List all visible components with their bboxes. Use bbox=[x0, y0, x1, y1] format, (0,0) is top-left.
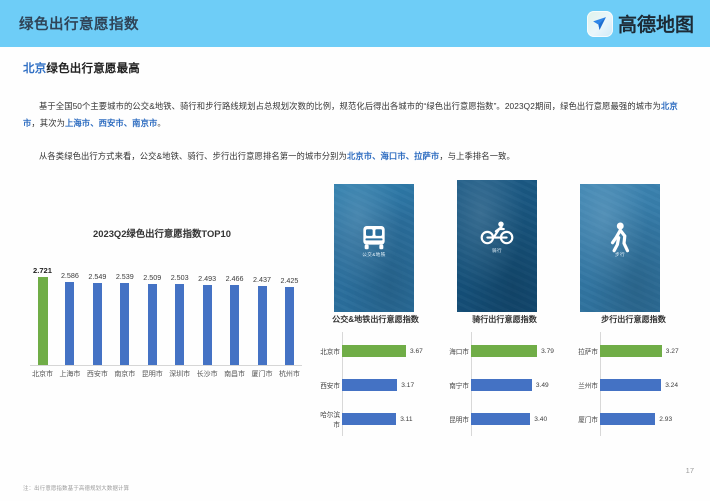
bar-column: 2.437 bbox=[250, 250, 275, 365]
bar bbox=[203, 285, 212, 366]
bar-column: 2.549 bbox=[85, 250, 110, 365]
slide: 绿色出行意愿指数 高德地图 北京绿色出行意愿最高 基于全国50个主要城市的公交&… bbox=[0, 0, 710, 501]
bar bbox=[230, 285, 239, 365]
mini-bar-row: 西安市3.17 bbox=[342, 368, 437, 402]
bar-column: 2.425 bbox=[277, 250, 302, 365]
bicycle-icon bbox=[457, 218, 537, 248]
mini-bar-value-label: 3.49 bbox=[536, 382, 549, 389]
bike-card: 骑行 bbox=[457, 180, 537, 312]
mini-category-label: 海口市 bbox=[443, 346, 469, 356]
bar-value-label: 2.466 bbox=[226, 274, 244, 283]
mini-bar-row: 北京市3.67 bbox=[342, 334, 437, 368]
paragraph-1-part-e: 。 bbox=[157, 118, 165, 128]
mini-category-label: 拉萨市 bbox=[572, 346, 598, 356]
mini-bar bbox=[600, 345, 662, 357]
x-axis-label: 长沙市 bbox=[195, 369, 220, 379]
mini-bar-row: 兰州市3.24 bbox=[600, 368, 695, 402]
bar-value-label: 2.586 bbox=[61, 271, 79, 280]
bar-column: 2.509 bbox=[140, 250, 165, 365]
x-axis-label: 上海市 bbox=[57, 369, 82, 379]
bar-column: 2.721 bbox=[30, 250, 55, 365]
mini-category-label: 南宁市 bbox=[443, 380, 469, 390]
section-heading-rest: 绿色出行意愿最高 bbox=[46, 63, 140, 75]
page-number: 17 bbox=[686, 466, 694, 475]
mini-category-label: 哈尔滨市 bbox=[314, 409, 340, 429]
walk-card-caption: 步行 bbox=[580, 252, 660, 258]
transit-bar-chart: 公交&地铁出行意愿指数 北京市3.67西安市3.17哈尔滨市3.11 bbox=[314, 314, 437, 444]
bar bbox=[65, 282, 74, 366]
paper-plane-icon bbox=[587, 11, 613, 37]
mini-bar-value-label: 3.24 bbox=[665, 382, 678, 389]
section-heading: 北京绿色出行意愿最高 bbox=[23, 60, 140, 76]
mini-bar-value-label: 3.17 bbox=[401, 382, 414, 389]
main-chart-axis-line bbox=[30, 365, 302, 366]
bar bbox=[120, 283, 129, 365]
amap-logo: 高德地图 bbox=[587, 10, 694, 37]
bar-column: 2.503 bbox=[167, 250, 192, 365]
paragraph-2-part-a: 从各类绿色出行方式来看，公交&地铁、骑行、步行出行意愿排名第一的城市分别为 bbox=[39, 151, 347, 161]
mini-bar-value-label: 2.93 bbox=[659, 416, 672, 423]
bike-card-caption: 骑行 bbox=[457, 248, 537, 254]
walking-bar-chart: 步行出行意愿指数 拉萨市3.27兰州市3.24厦门市2.93 bbox=[572, 314, 695, 444]
main-chart-title: 2023Q2绿色出行意愿指数TOP10 bbox=[14, 226, 310, 240]
x-axis-label: 西安市 bbox=[85, 369, 110, 379]
bar-value-label: 2.493 bbox=[198, 274, 216, 283]
mini-bar bbox=[600, 379, 661, 391]
mini-bar-value-label: 3.27 bbox=[666, 348, 679, 355]
x-axis-label: 厦门市 bbox=[250, 369, 275, 379]
bar-value-label: 2.437 bbox=[253, 275, 271, 284]
bar bbox=[38, 277, 48, 365]
cycling-chart-title: 骑行出行意愿指数 bbox=[443, 314, 566, 325]
pedestrian-icon bbox=[580, 222, 660, 254]
x-axis-label: 深圳市 bbox=[167, 369, 192, 379]
bar-column: 2.493 bbox=[195, 250, 220, 365]
bar bbox=[258, 286, 267, 365]
x-axis-label: 南昌市 bbox=[222, 369, 247, 379]
bus-icon bbox=[334, 222, 414, 254]
x-axis-label: 昆明市 bbox=[140, 369, 165, 379]
paragraph-2-part-c: ，与上季排名一致。 bbox=[439, 151, 515, 161]
bus-card-caption: 公交&地铁 bbox=[334, 252, 414, 258]
paragraph-1-part-a: 基于全国50个主要城市的公交&地铁、骑行和步行路线规划占总规划次数的比例，规范化… bbox=[39, 101, 661, 111]
section-heading-highlight: 北京 bbox=[23, 63, 46, 75]
mini-bar-row: 海口市3.79 bbox=[471, 334, 566, 368]
logo-text: 高德地图 bbox=[618, 10, 694, 37]
main-chart-x-labels: 北京市上海市西安市南京市昆明市深圳市长沙市南昌市厦门市杭州市 bbox=[30, 369, 302, 379]
mini-bar-value-label: 3.11 bbox=[400, 416, 412, 423]
bar bbox=[175, 284, 184, 365]
mini-bar-value-label: 3.79 bbox=[541, 348, 554, 355]
mini-bar-row: 昆明市3.40 bbox=[471, 402, 566, 436]
transport-mode-cards: 公交&地铁 骑行 bbox=[320, 180, 700, 312]
x-axis-label: 北京市 bbox=[30, 369, 55, 379]
page-title: 绿色出行意愿指数 bbox=[19, 13, 139, 34]
bar-value-label: 2.721 bbox=[33, 266, 52, 275]
bar bbox=[148, 284, 157, 365]
mini-bar-value-label: 3.67 bbox=[410, 348, 423, 355]
main-bar-chart: 2023Q2绿色出行意愿指数TOP10 2.7212.5862.5492.539… bbox=[14, 222, 310, 394]
paragraph-1: 基于全国50个主要城市的公交&地铁、骑行和步行路线规划占总规划次数的比例，规范化… bbox=[23, 98, 688, 132]
paragraph-1-city-list: 上海市、西安市、南京市 bbox=[65, 118, 157, 128]
bar-value-label: 2.425 bbox=[280, 276, 298, 285]
mini-bar-row: 南宁市3.49 bbox=[471, 368, 566, 402]
bar-value-label: 2.503 bbox=[171, 273, 189, 282]
bar-value-label: 2.509 bbox=[143, 273, 161, 282]
mini-category-label: 厦门市 bbox=[572, 414, 598, 424]
bar-value-label: 2.549 bbox=[88, 272, 106, 281]
mini-bar-row: 拉萨市3.27 bbox=[600, 334, 695, 368]
mini-bar bbox=[471, 345, 537, 357]
footnote: 注：出行意愿指数基于高德规划大数据计算 bbox=[23, 484, 129, 492]
paragraph-2-city-list: 北京市、海口市、拉萨市 bbox=[347, 151, 439, 161]
mini-bar bbox=[471, 413, 530, 425]
x-axis-label: 杭州市 bbox=[277, 369, 302, 379]
mini-category-label: 西安市 bbox=[314, 380, 340, 390]
paragraph-1-part-c: ，其次为 bbox=[31, 118, 65, 128]
x-axis-label: 南京市 bbox=[112, 369, 137, 379]
bar bbox=[93, 283, 102, 365]
mini-bar bbox=[342, 345, 406, 357]
mini-bar bbox=[471, 379, 532, 391]
mini-bar-value-label: 3.40 bbox=[534, 416, 547, 423]
paragraph-2: 从各类绿色出行方式来看，公交&地铁、骑行、步行出行意愿排名第一的城市分别为北京市… bbox=[23, 148, 688, 165]
mini-bar bbox=[342, 413, 396, 425]
walk-card: 步行 bbox=[580, 184, 660, 312]
mini-category-label: 昆明市 bbox=[443, 414, 469, 424]
mini-bar-row: 厦门市2.93 bbox=[600, 402, 695, 436]
bar-column: 2.466 bbox=[222, 250, 247, 365]
cycling-bar-chart: 骑行出行意愿指数 海口市3.79南宁市3.49昆明市3.40 bbox=[443, 314, 566, 444]
mini-bar bbox=[600, 413, 655, 425]
bar-value-label: 2.539 bbox=[116, 272, 134, 281]
bar bbox=[285, 287, 294, 365]
mini-bar-row: 哈尔滨市3.11 bbox=[342, 402, 437, 436]
bar-column: 2.586 bbox=[57, 250, 82, 365]
mini-category-label: 兰州市 bbox=[572, 380, 598, 390]
transit-chart-title: 公交&地铁出行意愿指数 bbox=[314, 314, 437, 325]
slide-header: 绿色出行意愿指数 高德地图 bbox=[0, 0, 710, 47]
mini-bar bbox=[342, 379, 397, 391]
bar-column: 2.539 bbox=[112, 250, 137, 365]
mini-category-label: 北京市 bbox=[314, 346, 340, 356]
bus-card: 公交&地铁 bbox=[334, 184, 414, 312]
walking-chart-title: 步行出行意愿指数 bbox=[572, 314, 695, 325]
main-chart-bars: 2.7212.5862.5492.5392.5092.5032.4932.466… bbox=[30, 250, 302, 365]
